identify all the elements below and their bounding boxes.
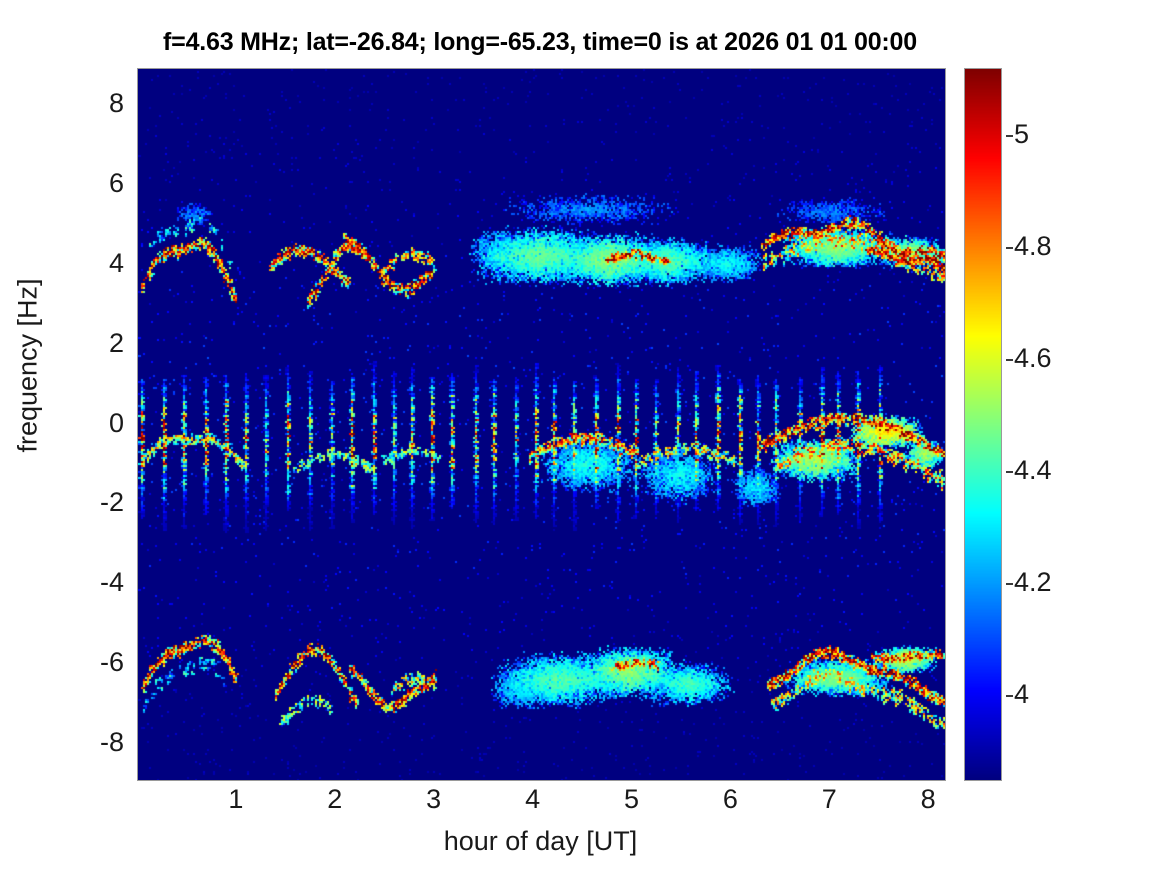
y-tick-label: -4 (64, 569, 124, 596)
colorbar-tick-label: 4.6 (1014, 345, 1052, 372)
colorbar-tick-mark (1006, 247, 1013, 249)
figure-canvas: f=4.63 MHz; lat=-26.84; long=-65.23, tim… (0, 0, 1167, 875)
x-tick-label: 1 (206, 786, 266, 813)
x-tick-label: 5 (601, 786, 661, 813)
x-tick-label: 8 (898, 786, 958, 813)
colorbar-tick-label: 4.4 (1014, 457, 1052, 484)
y-tick-label: 8 (64, 90, 124, 117)
page-title: f=4.63 MHz; lat=-26.84; long=-65.23, tim… (0, 28, 1080, 57)
x-tick-label: 2 (305, 786, 365, 813)
x-tick-label: 6 (700, 786, 760, 813)
colorbar-ticks: 44.24.44.64.85 (1006, 0, 1126, 875)
y-tick-label: 2 (64, 330, 124, 357)
y-axis-label: frequency [Hz] (13, 186, 44, 546)
y-tick-label: -6 (64, 649, 124, 676)
colorbar-tick-mark (1006, 359, 1013, 361)
spectrogram-axes[interactable] (137, 68, 946, 781)
y-tick-label: -2 (64, 489, 124, 516)
colorbar-tick-mark (1006, 471, 1013, 473)
x-axis-ticks: 12345678 (0, 786, 1167, 826)
y-tick-label: -8 (64, 729, 124, 756)
x-tick-label: 3 (404, 786, 464, 813)
x-tick-label: 7 (799, 786, 859, 813)
spectrogram-image (138, 69, 945, 780)
y-tick-label: 4 (64, 250, 124, 277)
colorbar-tick-label: 4.8 (1014, 233, 1052, 260)
x-axis-label: hour of day [UT] (137, 826, 944, 857)
colorbar-tick-mark (1006, 135, 1013, 137)
colorbar-tick-mark (1006, 583, 1013, 585)
colorbar-tick-label: 4.2 (1014, 569, 1052, 596)
y-tick-label: 6 (64, 170, 124, 197)
x-tick-label: 4 (503, 786, 563, 813)
colorbar-gradient (965, 69, 1001, 780)
colorbar[interactable] (964, 68, 1002, 781)
y-tick-label: 0 (64, 410, 124, 437)
colorbar-tick-label: 4 (1014, 681, 1029, 708)
colorbar-tick-mark (1006, 695, 1013, 697)
colorbar-tick-label: 5 (1014, 121, 1029, 148)
y-axis-ticks: 86420-2-4-6-8 (54, 0, 124, 875)
